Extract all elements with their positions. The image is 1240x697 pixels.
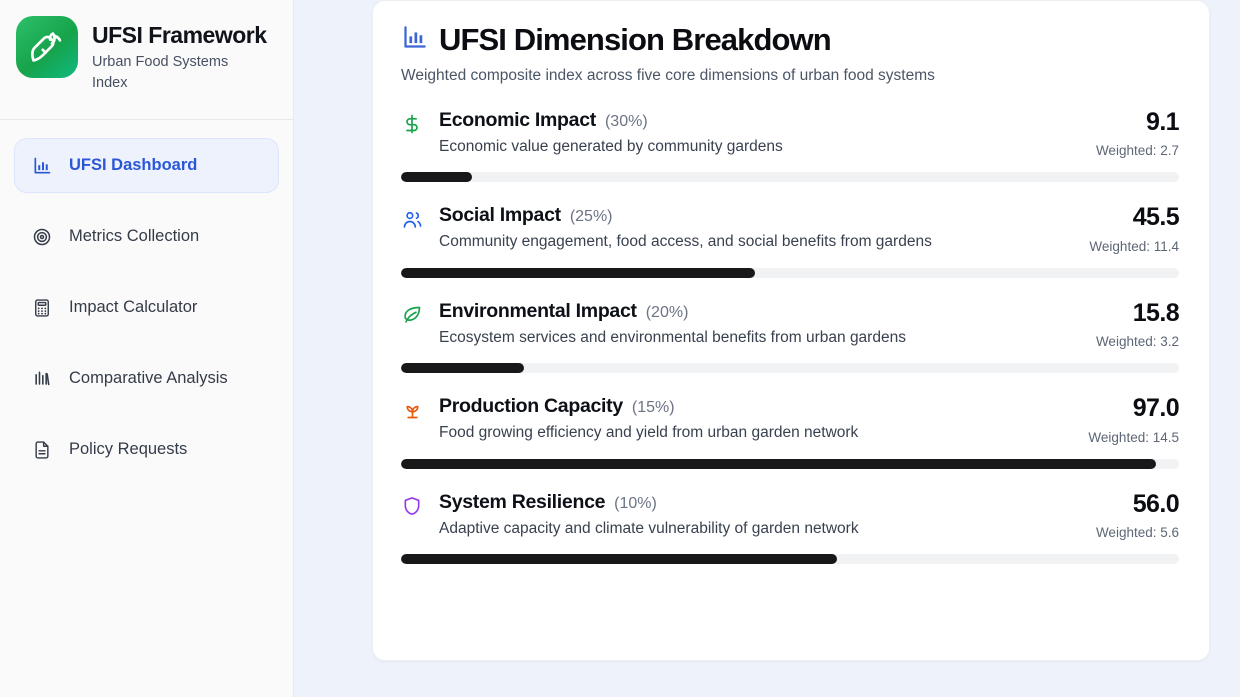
target-icon [31, 226, 52, 247]
calculator-icon [31, 297, 52, 318]
page-title: UFSI Dimension Breakdown [439, 23, 831, 57]
page-subtitle: Weighted composite index across five cor… [401, 65, 1179, 87]
dimension-weight: (25%) [570, 208, 613, 226]
sidebar-item-label: Metrics Collection [69, 227, 199, 246]
users-icon [401, 208, 423, 230]
dimension-description: Community engagement, food access, and s… [439, 232, 1059, 253]
dimension-name: Environmental Impact [439, 300, 637, 323]
sprout-icon [401, 399, 423, 421]
dimension-progress-track [401, 363, 1179, 373]
brand-text: UFSI Framework Urban Food Systems Index [92, 16, 267, 93]
dimension-description: Adaptive capacity and climate vulnerabil… [439, 519, 1059, 540]
dimension-score: 97.0 [1069, 395, 1179, 423]
sidebar-item-policy-requests[interactable]: Policy Requests [14, 422, 279, 477]
leaf-icon [401, 304, 423, 326]
sidebar-item-ufsi-dashboard[interactable]: UFSI Dashboard [14, 138, 279, 193]
sidebar-item-impact-calculator[interactable]: Impact Calculator [14, 280, 279, 335]
shield-icon [401, 495, 423, 517]
dimension-score: 56.0 [1069, 491, 1179, 519]
dimension-progress-track [401, 459, 1179, 469]
sidebar-item-label: Policy Requests [69, 440, 187, 459]
ufsi-dimension-breakdown-card: UFSI Dimension Breakdown Weighted compos… [372, 0, 1210, 661]
dimension-progress-fill [401, 172, 472, 182]
dimension-name: System Resilience [439, 491, 605, 514]
dimension-description: Ecosystem services and environmental ben… [439, 328, 1059, 349]
bar-chart-icon [401, 24, 428, 56]
dimension-weight: (15%) [632, 399, 675, 417]
dimension-row: System Resilience (10%) Adaptive capacit… [401, 491, 1179, 565]
bar-chart-lines-icon [31, 368, 52, 389]
dimension-progress-track [401, 268, 1179, 278]
dimension-progress-fill [401, 459, 1156, 469]
dimension-description: Economic value generated by community ga… [439, 137, 1059, 158]
sidebar-nav: UFSI Dashboard Metrics Collection [0, 120, 293, 477]
dimension-weighted-score: Weighted: 2.7 [1069, 143, 1179, 158]
dimension-name: Social Impact [439, 204, 561, 227]
dimension-weight: (10%) [614, 495, 657, 513]
carrot-icon [16, 16, 78, 78]
dimension-progress-fill [401, 268, 755, 278]
app-root: UFSI Framework Urban Food Systems Index … [0, 0, 1240, 697]
dimension-score: 15.8 [1069, 300, 1179, 328]
document-icon [31, 439, 52, 460]
dimension-weighted-score: Weighted: 14.5 [1069, 430, 1179, 445]
dimension-progress-track [401, 554, 1179, 564]
dimension-progress-fill [401, 554, 837, 564]
dimension-weight: (20%) [646, 304, 689, 322]
dimension-progress-fill [401, 363, 524, 373]
main-content: UFSI Dimension Breakdown Weighted compos… [294, 0, 1240, 697]
sidebar: UFSI Framework Urban Food Systems Index … [0, 0, 294, 697]
dimension-row: Economic Impact (30%) Economic value gen… [401, 109, 1179, 183]
dimension-weighted-score: Weighted: 11.4 [1069, 239, 1179, 254]
dimension-score: 45.5 [1069, 204, 1179, 232]
bar-chart-icon [31, 155, 52, 176]
dimension-weighted-score: Weighted: 5.6 [1069, 525, 1179, 540]
sidebar-item-comparative-analysis[interactable]: Comparative Analysis [14, 351, 279, 406]
dimension-weighted-score: Weighted: 3.2 [1069, 334, 1179, 349]
dimension-row: Production Capacity (15%) Food growing e… [401, 395, 1179, 469]
sidebar-item-label: Impact Calculator [69, 298, 197, 317]
brand: UFSI Framework Urban Food Systems Index [0, 0, 293, 93]
dimension-weight: (30%) [605, 113, 648, 131]
dollar-icon [401, 113, 423, 135]
card-header: UFSI Dimension Breakdown [401, 23, 1179, 57]
dimension-row: Social Impact (25%) Community engagement… [401, 204, 1179, 278]
sidebar-item-label: Comparative Analysis [69, 369, 228, 388]
dimension-description: Food growing efficiency and yield from u… [439, 423, 1059, 444]
brand-title: UFSI Framework [92, 22, 267, 49]
dimension-progress-track [401, 172, 1179, 182]
dimension-score: 9.1 [1069, 109, 1179, 137]
sidebar-item-label: UFSI Dashboard [69, 156, 197, 175]
sidebar-item-metrics-collection[interactable]: Metrics Collection [14, 209, 279, 264]
dimension-row: Environmental Impact (20%) Ecosystem ser… [401, 300, 1179, 374]
dimension-name: Production Capacity [439, 395, 623, 418]
dimension-name: Economic Impact [439, 109, 596, 132]
dimension-list: Economic Impact (30%) Economic value gen… [401, 109, 1179, 565]
brand-subtitle: Urban Food Systems Index [92, 52, 252, 93]
